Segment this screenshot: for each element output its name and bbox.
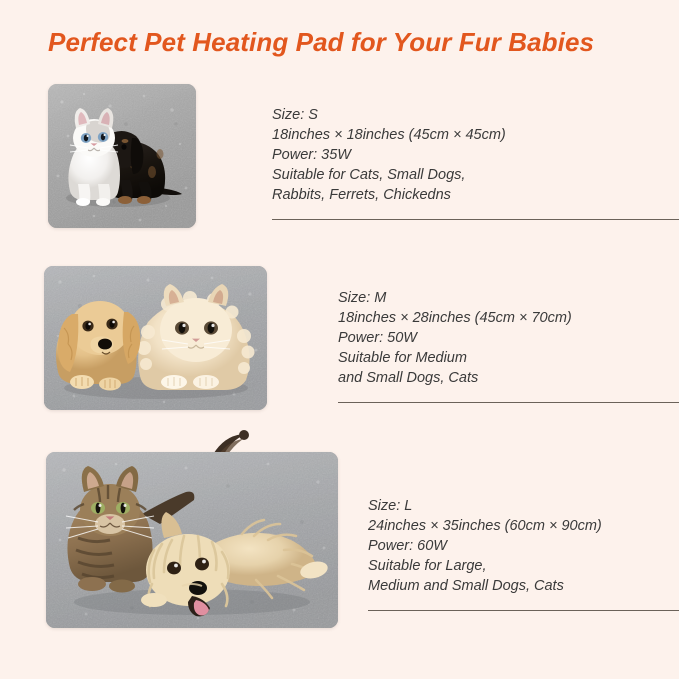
divider-size-m xyxy=(338,402,679,403)
spec-text-size-l: Size: L 24inches × 35inches (60cm × 90cm… xyxy=(368,496,602,596)
product-infographic: Perfect Pet Heating Pad for Your Fur Bab… xyxy=(0,0,679,679)
pet-photo-tabby-yorkie xyxy=(46,452,338,628)
spec-line: Power: 35W xyxy=(272,145,506,165)
spec-line: and Small Dogs, Cats xyxy=(338,368,572,388)
pet-photo-spaniel-persian xyxy=(44,266,267,410)
spec-line: Rabbits, Ferrets, Chickedns xyxy=(272,185,506,205)
spec-line: 18inches × 18inches (45cm × 45cm) xyxy=(272,125,506,145)
pet-photo-kitten-dachshund xyxy=(48,84,196,228)
heating-pad-photo-size-s xyxy=(48,84,196,228)
spec-line: Suitable for Medium xyxy=(338,348,572,368)
spec-line: Size: S xyxy=(272,105,506,125)
spec-line: Suitable for Cats, Small Dogs, xyxy=(272,165,506,185)
white-kitten xyxy=(68,108,120,206)
spec-line: Power: 50W xyxy=(338,328,572,348)
spec-line: 18inches × 28inches (45cm × 70cm) xyxy=(338,308,572,328)
spec-text-size-s: Size: S 18inches × 18inches (45cm × 45cm… xyxy=(272,105,506,205)
spec-line: Size: L xyxy=(368,496,602,516)
spec-line: Size: M xyxy=(338,288,572,308)
spec-line: Suitable for Large, xyxy=(368,556,602,576)
divider-size-s xyxy=(272,219,679,220)
heating-pad-photo-size-m xyxy=(44,266,267,410)
spec-text-size-m: Size: M 18inches × 28inches (45cm × 70cm… xyxy=(338,288,572,388)
heating-pad-photo-size-l xyxy=(46,452,338,628)
spec-line: Medium and Small Dogs, Cats xyxy=(368,576,602,596)
spec-line: 24inches × 35inches (60cm × 90cm) xyxy=(368,516,602,536)
spec-line: Power: 60W xyxy=(368,536,602,556)
page-title: Perfect Pet Heating Pad for Your Fur Bab… xyxy=(48,27,594,58)
divider-size-l xyxy=(368,610,679,611)
